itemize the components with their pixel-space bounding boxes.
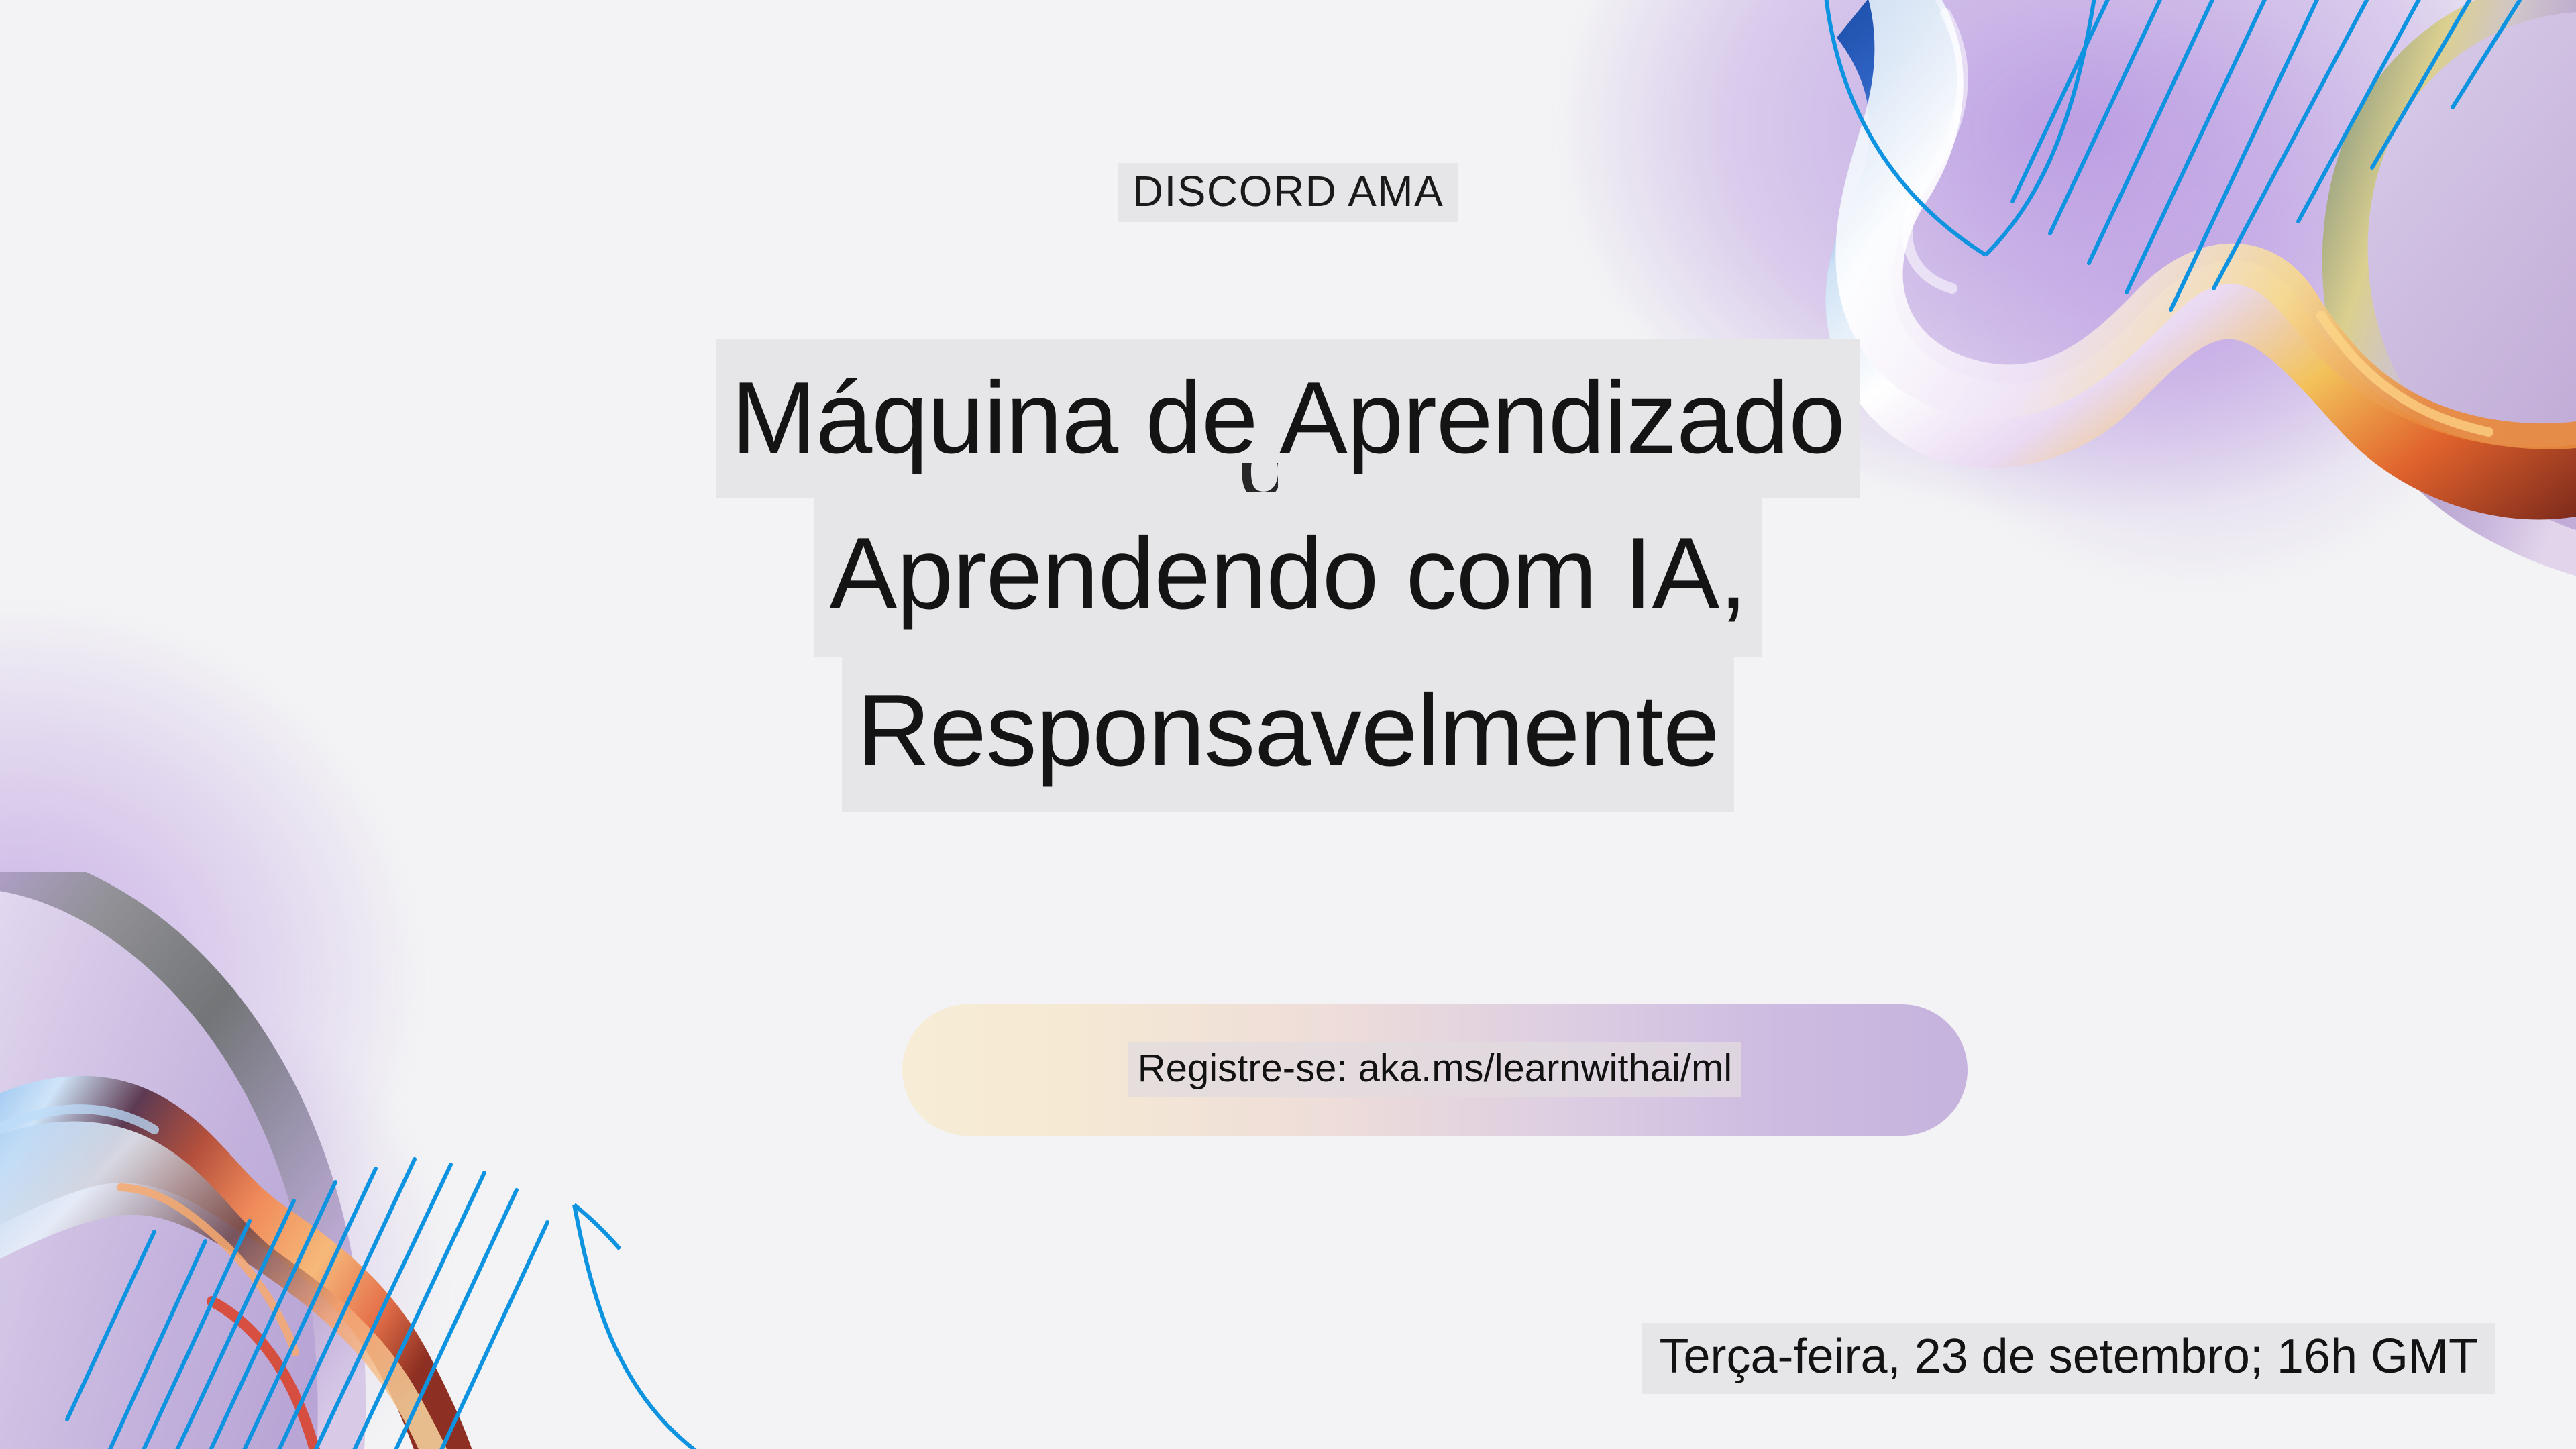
event-date-time-text: Terça-feira, 23 de setembro; 16h GMT — [1642, 1323, 2495, 1394]
headline-line-1: Máquina de Aprendizado — [0, 339, 2576, 498]
eyebrow-text: DISCORD AMA — [1118, 163, 1459, 222]
headline-line-3: Responsavelmente — [0, 653, 2576, 812]
eyebrow-label: DISCORD AMA — [0, 163, 2576, 222]
headline-line-1-text: Máquina de Aprendizado — [716, 339, 1860, 498]
page-title: Máquina de Aprendizado Aprendendo com IA… — [0, 339, 2576, 812]
headline-line-3-text: Responsavelmente — [842, 653, 1733, 812]
register-cta-button[interactable]: Registre-se: aka.ms/learnwithai/ml — [902, 1004, 1968, 1136]
headline-line-2: Aprendendo com IA, — [0, 493, 2576, 657]
headline-line-2-text: Aprendendo com IA, — [814, 493, 1762, 657]
banner-canvas: DISCORD AMA Máquina de Aprendizado Apren… — [0, 0, 2576, 1449]
ghost-glyph-artifact: g — [1238, 463, 1278, 492]
register-cta-label[interactable]: Registre-se: aka.ms/learnwithai/ml — [1128, 1042, 1741, 1097]
event-date-time: Terça-feira, 23 de setembro; 16h GMT — [1642, 1323, 2495, 1394]
